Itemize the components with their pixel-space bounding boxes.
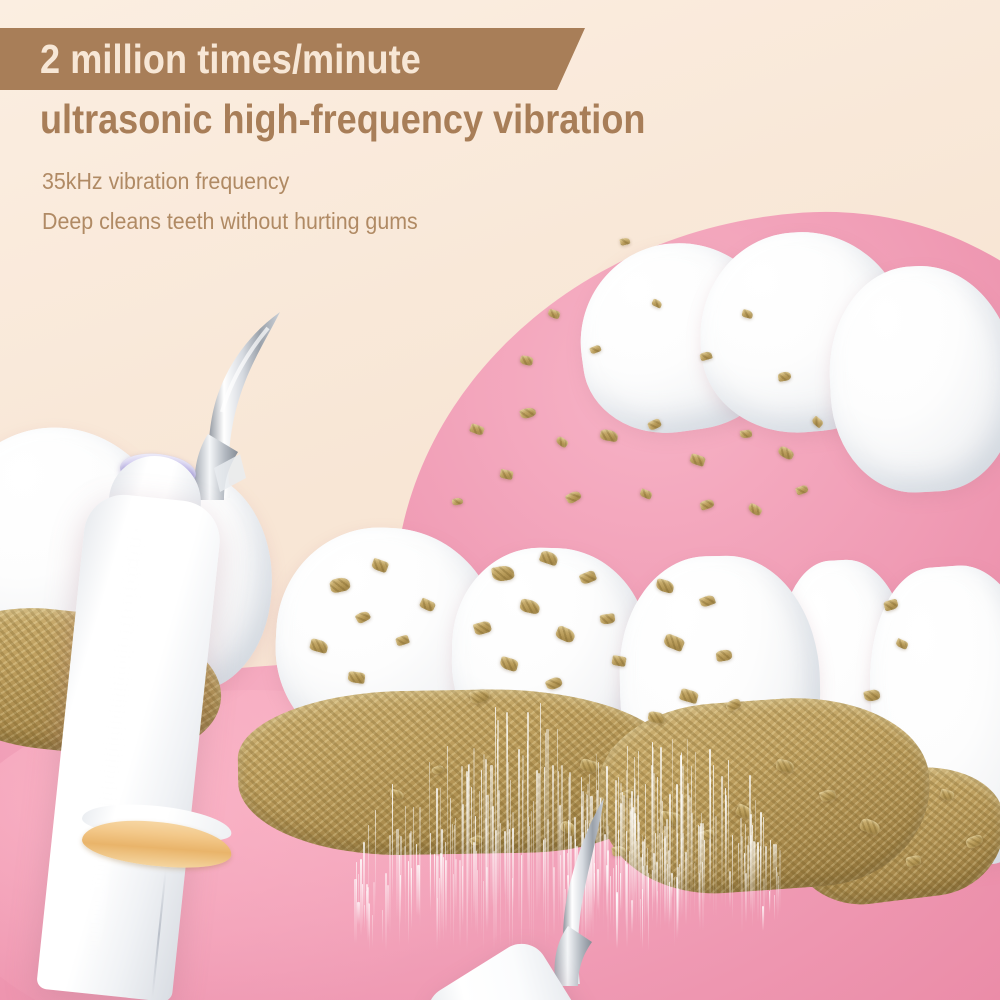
tartar-flake <box>329 576 351 594</box>
tartar-flake <box>579 569 598 585</box>
tartar-flake <box>659 810 681 826</box>
tartar-flake <box>775 758 795 773</box>
tartar-flake <box>699 828 716 842</box>
tartar-flake <box>451 497 463 506</box>
scaler-handpiece <box>60 440 320 1000</box>
tartar-flake <box>965 833 985 849</box>
tartar-flake <box>639 488 653 500</box>
sub-line-frequency: 35kHz vibration frequency <box>42 168 289 195</box>
tartar-flake <box>419 597 437 612</box>
tartar-flake <box>579 758 600 775</box>
tartar-flake <box>699 594 717 609</box>
tartar-flake <box>655 578 675 594</box>
tartar-flake <box>741 309 754 319</box>
tartar-flake <box>795 484 809 496</box>
sub-line-benefit: Deep cleans teeth without hurting gums <box>42 208 418 235</box>
tartar-flake <box>371 558 390 574</box>
tartar-flake <box>747 502 764 517</box>
tartar-flake <box>555 435 569 448</box>
tartar-flake <box>740 429 753 439</box>
tartar-flake <box>589 344 602 355</box>
tartar-flake <box>883 598 899 611</box>
tartar-flake <box>819 788 838 803</box>
tartar-flake <box>565 489 583 505</box>
tartar-flake <box>662 633 685 653</box>
tartar-flake <box>611 655 627 667</box>
tartar-flake <box>519 355 534 367</box>
banner-label: 2 million times/minute <box>40 36 421 83</box>
tartar-flake <box>599 613 615 625</box>
tartar-flake <box>647 418 663 432</box>
tartar-flake <box>473 620 493 636</box>
tartar-flake <box>347 671 365 684</box>
tartar-flake <box>354 609 371 624</box>
tartar-flake <box>777 371 791 382</box>
tartar-flake <box>689 453 706 467</box>
tartar-flake <box>905 855 922 868</box>
tartar-flake <box>499 469 514 481</box>
tartar-flake <box>863 688 881 702</box>
tartar-flake <box>895 638 909 650</box>
tartar-flake <box>431 764 445 775</box>
tartar-flake <box>939 788 955 801</box>
product-banner-image: 2 million times/minute ultrasonic high-f… <box>0 0 1000 1000</box>
tartar-flake <box>469 423 485 436</box>
tartar-flake <box>547 308 561 319</box>
tartar-flake <box>715 649 733 663</box>
tartar-flake <box>599 429 619 443</box>
tartar-flake <box>469 688 492 705</box>
tartar-flake <box>499 656 520 672</box>
tartar-flake <box>699 498 715 511</box>
banner-callout: 2 million times/minute <box>0 28 585 90</box>
tartar-flake <box>699 351 713 362</box>
tartar-flake <box>491 564 515 583</box>
second-scaler-handpiece <box>398 882 648 1000</box>
tartar-flake <box>679 688 700 704</box>
tartar-flake <box>539 550 560 567</box>
tartar-flake <box>554 625 577 645</box>
tartar-flake <box>725 697 743 713</box>
tartar-flake <box>777 445 796 461</box>
tartar-flake <box>519 598 541 615</box>
page-title: ultrasonic high-frequency vibration <box>40 96 645 143</box>
tartar-flake <box>651 298 663 308</box>
tartar-flake <box>734 803 755 821</box>
tartar-flake <box>811 415 825 428</box>
tartar-flake <box>858 817 881 836</box>
header: 2 million times/minute ultrasonic high-f… <box>0 0 1000 250</box>
tartar-flake <box>544 675 563 692</box>
tartar-flake <box>647 711 665 724</box>
tartar-flake <box>395 634 410 647</box>
tartar-flake <box>519 406 537 420</box>
tartar-flake <box>389 788 405 800</box>
